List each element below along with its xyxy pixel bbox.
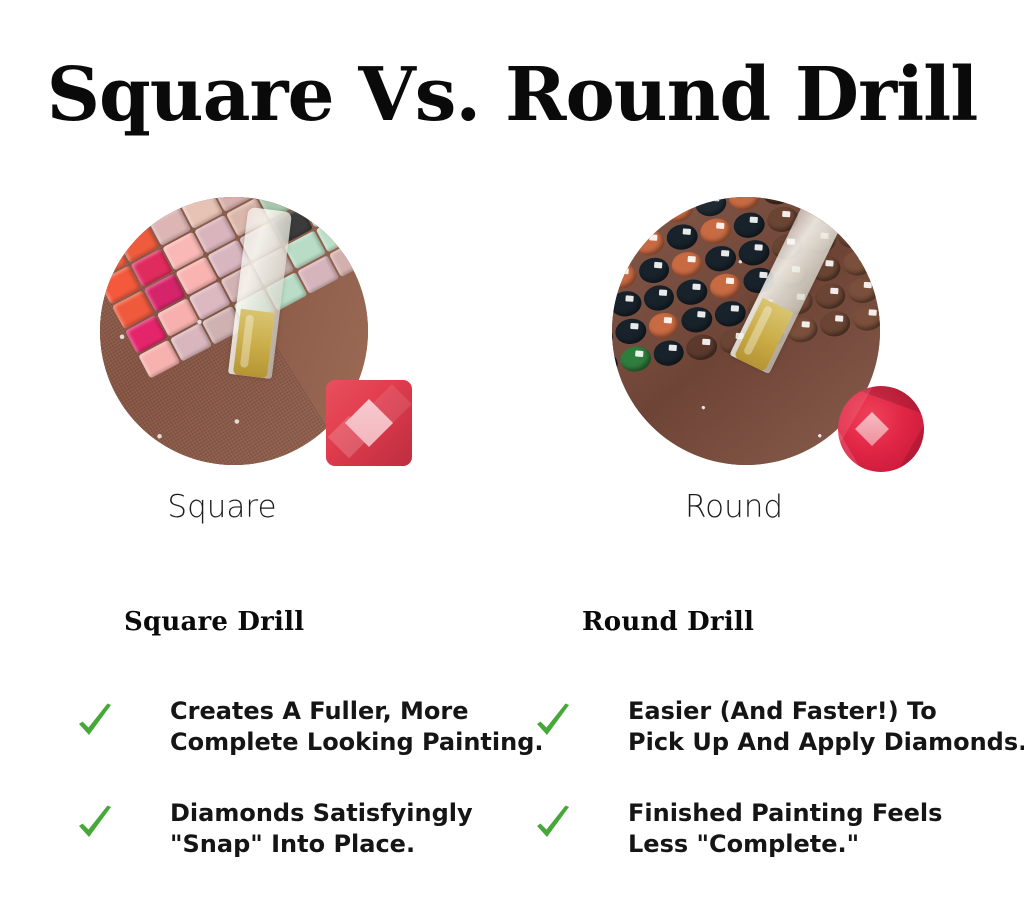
check-icon	[534, 702, 572, 742]
round-drill-bead	[670, 250, 705, 280]
round-drill-bead	[651, 338, 686, 368]
page-title: Square Vs. Round Drill	[0, 52, 1024, 138]
square-photo-stage	[100, 190, 412, 480]
round-drill-bead	[612, 234, 633, 264]
caption-round: Round	[478, 487, 990, 527]
round-drill-bead	[612, 289, 643, 319]
comparison-section: Square Drill Creates A Fuller, More Comp…	[0, 606, 1024, 906]
round-drill-bead	[732, 210, 767, 240]
round-photo-stage	[612, 190, 924, 480]
round-drill-bead	[865, 197, 880, 217]
round-drill-bead	[708, 271, 743, 301]
round-drill-bead	[793, 197, 828, 201]
round-drill-bead	[831, 197, 866, 223]
infographic-page: Square Vs. Round Drill	[0, 0, 1024, 923]
round-drill-bead	[612, 322, 614, 352]
list-item-text: Finished Painting Feels Less "Complete."	[628, 799, 942, 858]
round-drill-bead	[851, 303, 880, 333]
round-drill-bead	[612, 206, 628, 236]
square-drill-column: Square Drill Creates A Fuller, More Comp…	[120, 606, 580, 900]
photo-captions: Square Round	[0, 487, 1024, 531]
square-photo-column	[0, 190, 512, 490]
round-drill-bead	[612, 350, 619, 380]
round-drill-bead	[637, 256, 672, 286]
round-drill-bead	[870, 214, 880, 244]
round-drill-bead	[841, 248, 876, 278]
round-drill-bead	[641, 283, 676, 313]
round-drill-bead	[612, 261, 638, 291]
list-item: Finished Painting Feels Less "Complete."	[578, 798, 1024, 860]
round-drill-bead	[675, 277, 710, 307]
round-drill-bead	[612, 197, 623, 209]
round-drill-bead	[613, 317, 648, 347]
round-drill-bead	[646, 311, 681, 341]
round-drill-bead	[760, 197, 795, 207]
round-drill-bead	[874, 242, 880, 272]
caption-square: Square	[0, 487, 478, 527]
round-drill-bead	[684, 332, 719, 362]
round-drill-bead	[727, 197, 762, 213]
round-drill-bead	[660, 197, 695, 225]
round-drill-bead	[693, 197, 728, 219]
round-drill-bead	[879, 270, 880, 300]
list-item: Easier (And Faster!) To Pick Up And Appl…	[578, 696, 1024, 758]
round-drill-bead	[665, 222, 700, 252]
round-photo-column	[512, 190, 1024, 490]
list-item-text: Creates A Fuller, More Complete Looking …	[170, 697, 544, 756]
round-drill-bead	[836, 220, 871, 250]
round-drill-bead	[618, 344, 653, 374]
round-drill-heading: Round Drill	[582, 606, 1024, 638]
check-icon	[76, 702, 114, 742]
check-icon	[534, 804, 572, 844]
list-item: Diamonds Satisfyingly "Snap" Into Place.	[120, 798, 580, 860]
check-icon	[76, 804, 114, 844]
round-drill-bead	[818, 309, 853, 339]
photo-comparison-row	[0, 190, 1024, 490]
round-drill-bead	[632, 228, 667, 258]
round-drill-bead	[846, 275, 880, 305]
pen-wax-tip	[233, 309, 275, 379]
list-item-text: Easier (And Faster!) To Pick Up And Appl…	[628, 697, 1024, 756]
round-drill-bead	[813, 281, 848, 311]
round-drill-gem	[838, 386, 924, 472]
round-drill-bead	[622, 197, 657, 203]
list-item: Creates A Fuller, More Complete Looking …	[120, 696, 580, 758]
round-drill-bead	[736, 238, 771, 268]
square-drill-gem	[326, 380, 412, 466]
square-drill-heading: Square Drill	[124, 606, 580, 638]
round-drill-bead	[627, 200, 662, 230]
round-drill-bead	[680, 305, 715, 335]
list-item-text: Diamonds Satisfyingly "Snap" Into Place.	[170, 799, 473, 858]
round-drill-bead	[698, 216, 733, 246]
round-drill-bead	[713, 299, 748, 329]
round-drill-column: Round Drill Easier (And Faster!) To Pick…	[578, 606, 1024, 900]
round-drill-bead	[703, 244, 738, 274]
